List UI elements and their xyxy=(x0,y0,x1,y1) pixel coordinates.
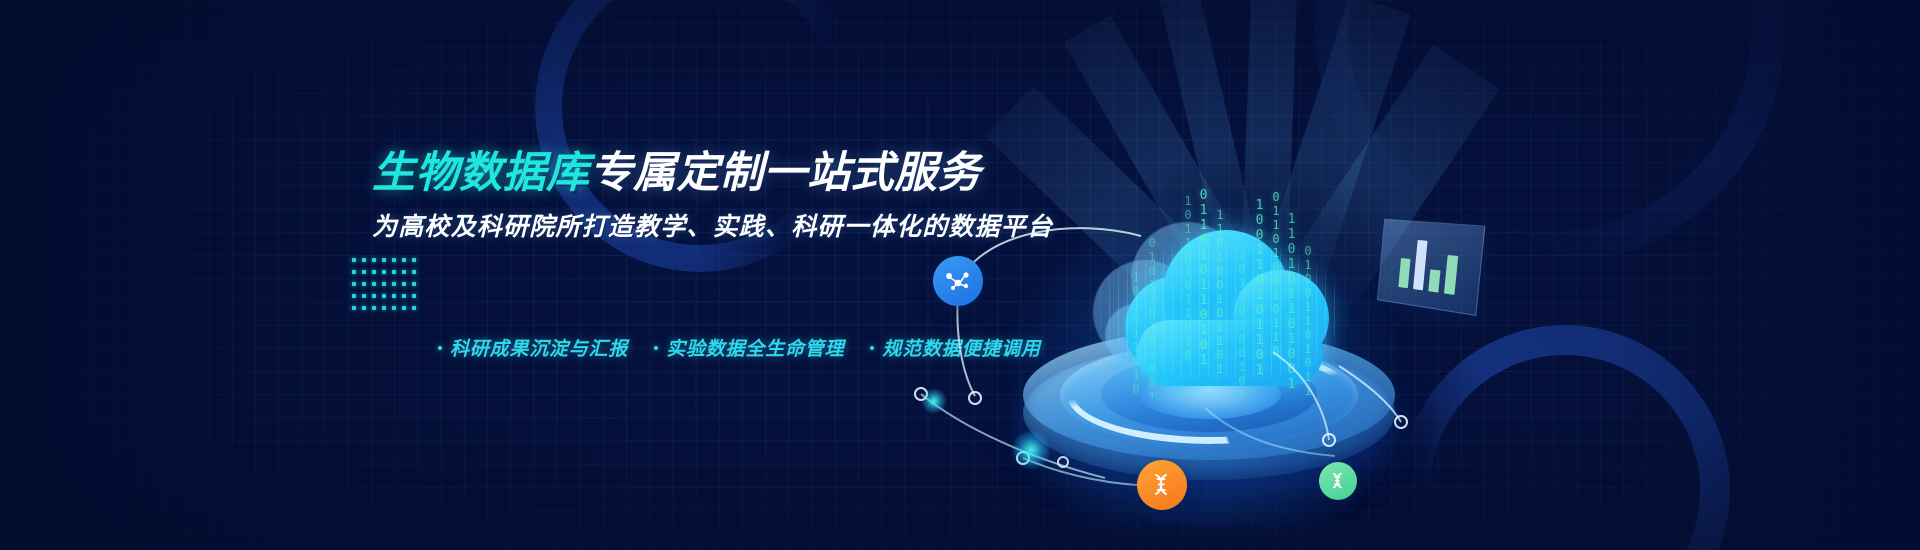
matrix-dot xyxy=(382,306,386,310)
glow-spark-left xyxy=(921,388,947,414)
matrix-dot xyxy=(402,270,406,274)
feature-item: 实验数据全生命管理 xyxy=(654,334,844,361)
matrix-dot xyxy=(352,294,356,298)
matrix-dot xyxy=(362,282,366,286)
matrix-dot xyxy=(372,294,376,298)
molecule-icon xyxy=(944,267,972,295)
matrix-dot xyxy=(372,282,376,286)
matrix-dot xyxy=(382,270,386,274)
matrix-dot xyxy=(392,270,396,274)
matrix-dot xyxy=(362,258,366,262)
matrix-dot xyxy=(402,294,406,298)
matrix-dot xyxy=(402,258,406,262)
bullet-dot xyxy=(654,346,658,350)
dna-icon xyxy=(1328,471,1348,491)
dna-node-green[interactable] xyxy=(1319,462,1357,500)
chart-bar xyxy=(1398,258,1410,288)
molecule-node[interactable] xyxy=(933,256,983,306)
chart-bar xyxy=(1428,269,1440,292)
matrix-dot xyxy=(392,282,396,286)
dot-matrix xyxy=(352,258,422,318)
matrix-dot xyxy=(392,294,396,298)
matrix-dot xyxy=(412,306,416,310)
matrix-dot xyxy=(372,270,376,274)
bar-chart-card xyxy=(1377,219,1486,316)
matrix-dot xyxy=(352,282,356,286)
matrix-dot xyxy=(362,306,366,310)
matrix-dot xyxy=(392,306,396,310)
headline-accent: 生物数据库 xyxy=(372,149,590,197)
feature-item: 科研成果沉淀与汇报 xyxy=(438,334,628,361)
matrix-dot xyxy=(402,282,406,286)
chart-bar xyxy=(1444,255,1458,295)
matrix-dot xyxy=(412,282,416,286)
chart-bar xyxy=(1413,240,1428,290)
matrix-dot xyxy=(412,294,416,298)
matrix-dot xyxy=(412,270,416,274)
bullet-dot xyxy=(870,346,874,350)
dna-icon xyxy=(1148,471,1176,499)
dna-node-orange[interactable] xyxy=(1137,460,1187,510)
matrix-dot xyxy=(412,258,416,262)
bullet-dot xyxy=(438,346,442,350)
matrix-dot xyxy=(382,294,386,298)
matrix-dot xyxy=(362,294,366,298)
matrix-dot xyxy=(372,306,376,310)
feature-label: 实验数据全生命管理 xyxy=(666,334,844,361)
promo-banner: 生物数据库专属定制一站式服务 为高校及科研院所打造教学、实践、科研一体化的数据平… xyxy=(0,0,1920,550)
matrix-dot xyxy=(352,258,356,262)
feature-label: 科研成果沉淀与汇报 xyxy=(450,334,628,361)
matrix-dot xyxy=(362,270,366,274)
matrix-dot xyxy=(372,258,376,262)
matrix-dot xyxy=(352,306,356,310)
glow-spark-bottom xyxy=(1011,430,1051,470)
matrix-dot xyxy=(382,258,386,262)
matrix-dot xyxy=(352,270,356,274)
matrix-dot xyxy=(392,258,396,262)
hero-illustration: 1011010110100110101101011101001011010101… xyxy=(905,140,1525,540)
matrix-dot xyxy=(382,282,386,286)
matrix-dot xyxy=(402,306,406,310)
data-cloud-icon xyxy=(1091,208,1341,378)
